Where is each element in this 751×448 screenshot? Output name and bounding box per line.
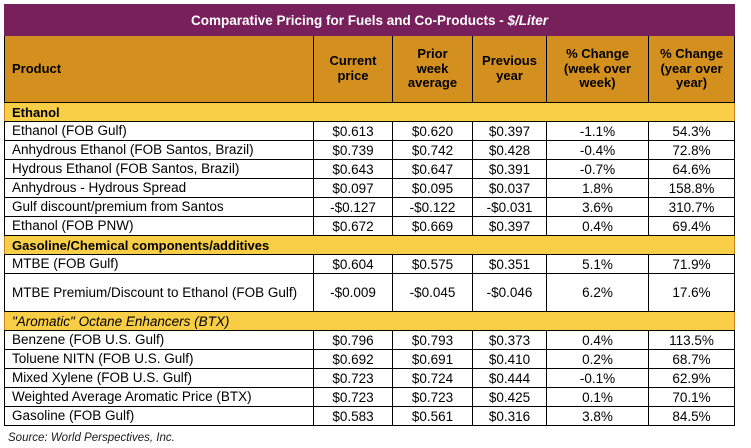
cell-prior-week-average: $0.742	[393, 141, 473, 160]
cell-product: Mixed Xylene (FOB U.S. Gulf)	[5, 369, 314, 388]
cell-product: Weighted Average Aromatic Price (BTX)	[5, 388, 314, 407]
cell-prior-week-average: -$0.122	[393, 198, 473, 217]
cell-change-week-over-week: 0.4%	[547, 331, 649, 350]
cell-current-price: -$0.009	[314, 274, 393, 312]
cell-change-year-over-year: 70.1%	[649, 388, 735, 407]
cell-change-week-over-week: 3.6%	[547, 198, 649, 217]
cell-change-year-over-year: 68.7%	[649, 350, 735, 369]
comparative-pricing-table: Comparative Pricing for Fuels and Co-Pro…	[4, 4, 735, 426]
cell-current-price: $0.672	[314, 217, 393, 236]
cell-change-year-over-year: 64.6%	[649, 160, 735, 179]
cell-current-price: -$0.127	[314, 198, 393, 217]
table-row: Ethanol (FOB Gulf)$0.613$0.620$0.397-1.1…	[5, 122, 735, 141]
cell-change-year-over-year: 113.5%	[649, 331, 735, 350]
cell-prior-week-average: $0.620	[393, 122, 473, 141]
table-row: Mixed Xylene (FOB U.S. Gulf)$0.723$0.724…	[5, 369, 735, 388]
cell-current-price: $0.643	[314, 160, 393, 179]
cell-current-price: $0.723	[314, 388, 393, 407]
table-row: Anhydrous Ethanol (FOB Santos, Brazil)$0…	[5, 141, 735, 160]
title-row: Comparative Pricing for Fuels and Co-Pro…	[5, 5, 735, 36]
table-row: Anhydrous - Hydrous Spread$0.097$0.095$0…	[5, 179, 735, 198]
source-note: Source: World Perspectives, Inc.	[8, 432, 734, 444]
table-row: MTBE (FOB Gulf)$0.604$0.575$0.3515.1%71.…	[5, 255, 735, 274]
cell-previous-year: $0.444	[473, 369, 547, 388]
cell-product: Hydrous Ethanol (FOB Santos, Brazil)	[5, 160, 314, 179]
section-band-label: Gasoline/Chemical components/additives	[5, 236, 735, 255]
cell-previous-year: -$0.031	[473, 198, 547, 217]
cell-change-year-over-year: 310.7%	[649, 198, 735, 217]
page-title-text: Comparative Pricing for Fuels and Co-Pro…	[191, 13, 508, 28]
cell-prior-week-average: $0.724	[393, 369, 473, 388]
page-title-unit: $/Liter	[508, 13, 549, 28]
cell-change-year-over-year: 17.6%	[649, 274, 735, 312]
cell-change-week-over-week: 0.1%	[547, 388, 649, 407]
cell-change-year-over-year: 158.8%	[649, 179, 735, 198]
column-header-change-week-over-week: % Change(week overweek)	[547, 36, 649, 103]
table-row: Weighted Average Aromatic Price (BTX)$0.…	[5, 388, 735, 407]
cell-current-price: $0.796	[314, 331, 393, 350]
cell-current-price: $0.583	[314, 407, 393, 426]
cell-product: Anhydrous - Hydrous Spread	[5, 179, 314, 198]
column-header-row: Product Currentprice Priorweekaverage Pr…	[5, 36, 735, 103]
table-row: Ethanol (FOB PNW)$0.672$0.669$0.3970.4%6…	[5, 217, 735, 236]
page-title: Comparative Pricing for Fuels and Co-Pro…	[5, 5, 735, 36]
cell-prior-week-average: $0.561	[393, 407, 473, 426]
section-band-row: "Aromatic" Octane Enhancers (BTX)	[5, 312, 735, 331]
cell-prior-week-average: -$0.045	[393, 274, 473, 312]
cell-change-year-over-year: 71.9%	[649, 255, 735, 274]
column-header-current-price: Currentprice	[314, 36, 393, 103]
table-row: Hydrous Ethanol (FOB Santos, Brazil)$0.6…	[5, 160, 735, 179]
table-header: Comparative Pricing for Fuels and Co-Pro…	[5, 5, 735, 103]
cell-previous-year: $0.410	[473, 350, 547, 369]
cell-product: Ethanol (FOB PNW)	[5, 217, 314, 236]
table-row: Gulf discount/premium from Santos-$0.127…	[5, 198, 735, 217]
table-row: MTBE Premium/Discount to Ethanol (FOB Gu…	[5, 274, 735, 312]
cell-previous-year: $0.351	[473, 255, 547, 274]
section-band-row: Gasoline/Chemical components/additives	[5, 236, 735, 255]
table-body: EthanolEthanol (FOB Gulf)$0.613$0.620$0.…	[5, 103, 735, 426]
cell-current-price: $0.739	[314, 141, 393, 160]
cell-product: Benzene (FOB U.S. Gulf)	[5, 331, 314, 350]
cell-prior-week-average: $0.691	[393, 350, 473, 369]
table-row: Toluene NITN (FOB U.S. Gulf)$0.692$0.691…	[5, 350, 735, 369]
cell-change-year-over-year: 69.4%	[649, 217, 735, 236]
cell-change-week-over-week: -0.1%	[547, 369, 649, 388]
cell-change-week-over-week: 3.8%	[547, 407, 649, 426]
cell-current-price: $0.613	[314, 122, 393, 141]
cell-change-week-over-week: 6.2%	[547, 274, 649, 312]
cell-change-year-over-year: 72.8%	[649, 141, 735, 160]
cell-current-price: $0.604	[314, 255, 393, 274]
cell-change-year-over-year: 62.9%	[649, 369, 735, 388]
cell-previous-year: $0.037	[473, 179, 547, 198]
section-band-row: Ethanol	[5, 103, 735, 122]
cell-product: Gasoline (FOB Gulf)	[5, 407, 314, 426]
cell-prior-week-average: $0.575	[393, 255, 473, 274]
cell-product: Anhydrous Ethanol (FOB Santos, Brazil)	[5, 141, 314, 160]
cell-prior-week-average: $0.095	[393, 179, 473, 198]
column-header-previous-year: Previousyear	[473, 36, 547, 103]
cell-product: Ethanol (FOB Gulf)	[5, 122, 314, 141]
cell-product: Toluene NITN (FOB U.S. Gulf)	[5, 350, 314, 369]
cell-previous-year: $0.373	[473, 331, 547, 350]
cell-change-week-over-week: -1.1%	[547, 122, 649, 141]
cell-current-price: $0.723	[314, 369, 393, 388]
cell-change-year-over-year: 54.3%	[649, 122, 735, 141]
cell-previous-year: $0.428	[473, 141, 547, 160]
cell-current-price: $0.097	[314, 179, 393, 198]
cell-change-week-over-week: -0.4%	[547, 141, 649, 160]
cell-previous-year: $0.425	[473, 388, 547, 407]
cell-prior-week-average: $0.793	[393, 331, 473, 350]
pricing-table-sheet: Comparative Pricing for Fuels and Co-Pro…	[0, 0, 751, 448]
cell-change-week-over-week: 0.2%	[547, 350, 649, 369]
cell-previous-year: -$0.046	[473, 274, 547, 312]
cell-product: Gulf discount/premium from Santos	[5, 198, 314, 217]
cell-change-week-over-week: 0.4%	[547, 217, 649, 236]
cell-previous-year: $0.316	[473, 407, 547, 426]
table-row: Gasoline (FOB Gulf)$0.583$0.561$0.3163.8…	[5, 407, 735, 426]
cell-previous-year: $0.391	[473, 160, 547, 179]
section-band-label: Ethanol	[5, 103, 735, 122]
cell-prior-week-average: $0.669	[393, 217, 473, 236]
column-header-product: Product	[5, 36, 314, 103]
cell-product: MTBE Premium/Discount to Ethanol (FOB Gu…	[5, 274, 314, 312]
cell-product: MTBE (FOB Gulf)	[5, 255, 314, 274]
cell-change-year-over-year: 84.5%	[649, 407, 735, 426]
cell-prior-week-average: $0.647	[393, 160, 473, 179]
cell-previous-year: $0.397	[473, 122, 547, 141]
cell-change-week-over-week: -0.7%	[547, 160, 649, 179]
column-header-change-year-over-year: % Change(year overyear)	[649, 36, 735, 103]
section-band-label: "Aromatic" Octane Enhancers (BTX)	[5, 312, 735, 331]
cell-current-price: $0.692	[314, 350, 393, 369]
column-header-prior-week-average: Priorweekaverage	[393, 36, 473, 103]
cell-change-week-over-week: 5.1%	[547, 255, 649, 274]
cell-previous-year: $0.397	[473, 217, 547, 236]
table-row: Benzene (FOB U.S. Gulf)$0.796$0.793$0.37…	[5, 331, 735, 350]
cell-prior-week-average: $0.723	[393, 388, 473, 407]
cell-change-week-over-week: 1.8%	[547, 179, 649, 198]
